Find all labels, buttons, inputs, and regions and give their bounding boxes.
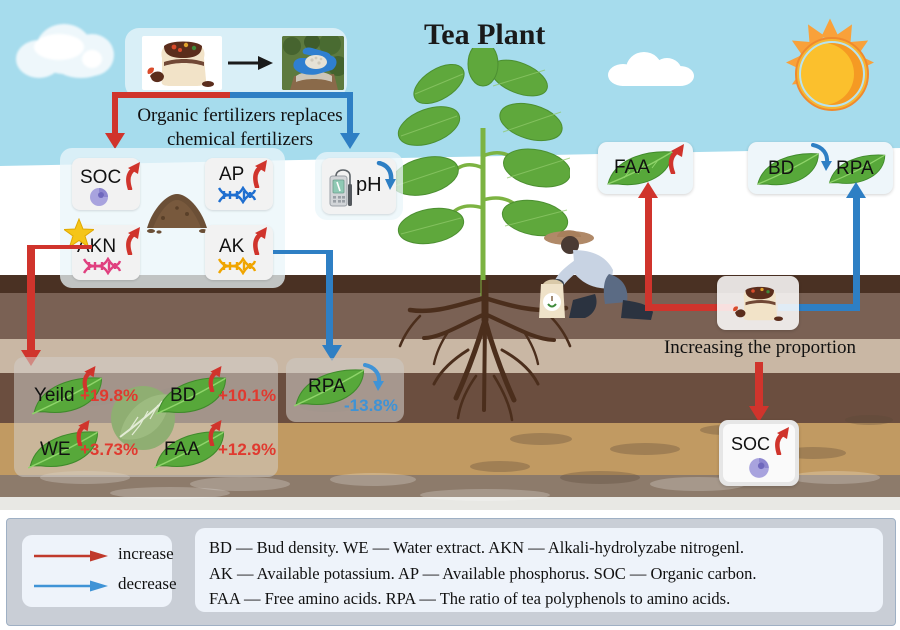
metric-yeild-label: Yeild [34, 385, 75, 407]
metric-we-label: WE [40, 439, 71, 461]
microbe-icon [88, 186, 110, 208]
caption-replace: Organic fertilizers replaces chemical fe… [110, 104, 370, 152]
arrow-head-blue-up [846, 182, 866, 198]
up-arrow-icon [124, 162, 142, 190]
up-arrow-icon [251, 227, 269, 255]
cloud-icon [8, 18, 120, 80]
bd-label: BD [768, 158, 794, 180]
tile-ap[interactable]: AP [205, 158, 273, 210]
compost-sack-icon [729, 280, 789, 326]
up-arrow-icon [773, 427, 791, 455]
caption-proportion: Increasing the proportion [640, 336, 880, 360]
connector-blue-top-stem [347, 92, 353, 136]
rpa-label: RPA [836, 158, 874, 180]
connector-blue-rpa-top [273, 250, 333, 254]
down-arrow-icon [362, 362, 384, 392]
rpa-result-label: RPA [308, 376, 346, 398]
tile-ak-label: AK [219, 236, 244, 258]
faa-label: FAA [614, 157, 650, 179]
infographic-canvas: Tea Plant Organic fertilizers replaces c… [0, 0, 900, 630]
arrow-head-red-down [105, 133, 125, 149]
rpa-result-value: -13.8% [344, 396, 398, 416]
connector-red-top [112, 92, 230, 98]
rpa-result-box[interactable]: RPA -13.8% [286, 358, 404, 422]
legend-key-box: increase decrease [22, 535, 172, 607]
metric-we[interactable]: WE +3.73% [22, 418, 147, 466]
metric-bd-label: BD [170, 385, 196, 407]
down-arrow-icon [376, 161, 396, 191]
abbrev-line-1: BD — Bud density. WE — Water extract. AK… [209, 538, 744, 558]
connector-red-soc [755, 362, 763, 410]
metric-faa-value: +12.9% [218, 440, 276, 460]
connector-blue-top [230, 92, 353, 98]
legend-increase-label: increase [118, 544, 174, 564]
page-title: Tea Plant [424, 18, 545, 52]
metric-yeild[interactable]: Yeild +19.8% [26, 366, 146, 414]
farmer-kneeling-icon [533, 222, 661, 326]
dna-pink-icon [82, 257, 122, 275]
dna-blue-icon [217, 186, 257, 204]
dna-orange-icon [217, 257, 257, 275]
down-arrow-icon [810, 142, 832, 172]
connector-blue-rpa [853, 196, 860, 311]
up-arrow-icon [251, 160, 269, 188]
metric-we-value: +3.73% [80, 440, 138, 460]
connector-red-results-top [30, 245, 92, 249]
cloud-icon [608, 50, 694, 86]
arrow-head-blue-down [340, 133, 360, 149]
tile-soc[interactable]: SOC [72, 158, 140, 210]
bd-rpa-box[interactable]: BD RPA [748, 142, 893, 194]
metric-faa-label: FAA [164, 439, 200, 461]
legend-decrease-label: decrease [118, 574, 177, 594]
compost-sack-icon [142, 36, 222, 90]
up-arrow-icon [666, 144, 686, 174]
metric-yeild-value: +19.8% [80, 386, 138, 406]
connector-red-results-stem [27, 245, 35, 355]
gloved-hand-fertilizer-photo [282, 36, 344, 90]
metric-faa[interactable]: FAA +12.9% [148, 418, 278, 466]
metric-bd-value: +10.1% [218, 386, 276, 406]
abbreviation-box: BD — Bud density. WE — Water extract. AK… [195, 528, 883, 612]
abbrev-line-2: AK — Available potassium. AP — Available… [209, 564, 757, 584]
soc-label: SOC [731, 434, 770, 455]
tile-ap-label: AP [219, 164, 244, 186]
up-arrow-icon [124, 227, 142, 255]
star-icon [64, 218, 94, 248]
arrow-right-icon [228, 56, 274, 70]
connector-blue-rpa-stem [326, 250, 333, 350]
soc-box-outer: SOC [719, 420, 799, 486]
increase-arrow-icon [34, 549, 110, 563]
connector-red-faa [645, 196, 652, 311]
abbrev-line-3: FAA — Free amino acids. RPA — The ratio … [209, 589, 730, 609]
soil-mound-icon [143, 188, 211, 234]
decrease-arrow-icon [34, 579, 110, 593]
metric-bd[interactable]: BD +10.1% [150, 366, 275, 414]
sun-icon [786, 28, 874, 116]
connector-red-top-stem [112, 92, 118, 136]
arrow-head-red-up [638, 182, 658, 198]
ph-box[interactable]: pH [322, 158, 396, 214]
ph-meter-icon [328, 166, 356, 208]
caption-replace-line1: Organic fertilizers replaces [137, 105, 342, 126]
sack-box [717, 276, 799, 330]
tile-ak[interactable]: AK [205, 225, 273, 280]
soc-box[interactable]: SOC [723, 424, 795, 482]
caption-replace-line2: chemical fertilizers [167, 129, 313, 150]
microbe-icon [747, 456, 771, 480]
